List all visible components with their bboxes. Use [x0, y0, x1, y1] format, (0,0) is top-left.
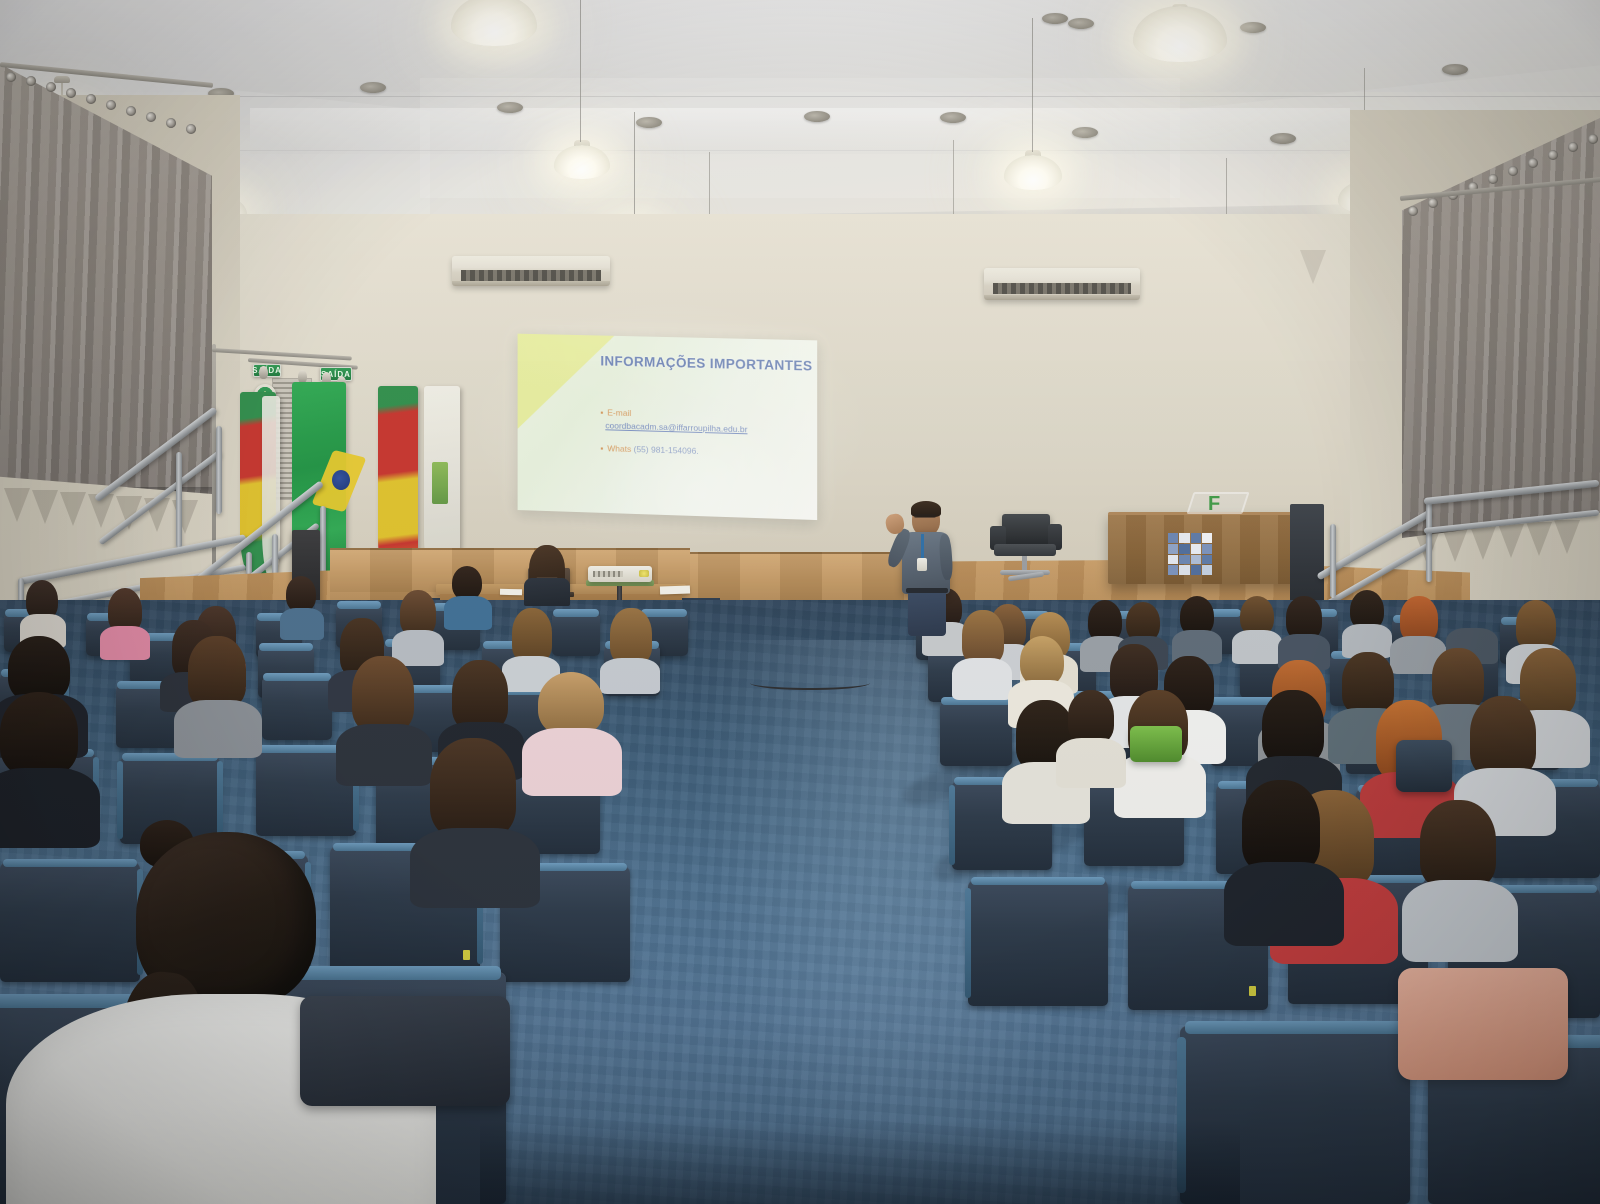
curtain-grommet: [26, 76, 36, 86]
hair: [512, 608, 552, 662]
hair: [452, 660, 508, 730]
armchair-seat: [994, 544, 1056, 556]
curtain-shadow-scallop: [1554, 520, 1580, 554]
pendant-lamp-9: [1002, 150, 1064, 222]
presenter: [890, 494, 970, 634]
logo-tile: [1191, 555, 1201, 565]
ceiling-seam-1: [0, 96, 1600, 97]
paper-sheet-2: [500, 589, 522, 595]
curtain-grommet: [1508, 166, 1518, 176]
logo-tile: [1179, 565, 1189, 575]
railing-post: [216, 426, 222, 514]
presenter-belt: [906, 588, 948, 593]
lamp-dome: [554, 145, 610, 179]
recessed-spot-11: [1442, 64, 1468, 75]
curtain-grommet: [186, 124, 196, 134]
stage-right-dark-panel: [1290, 504, 1324, 610]
hair: [286, 576, 316, 612]
logo-tile: [1179, 533, 1189, 543]
presenter-lanyard: [921, 534, 924, 560]
pendant-lamp-4: [448, 0, 540, 56]
hair: [610, 608, 652, 664]
jacket-on-seat: [1398, 968, 1568, 1080]
curtain-grommet: [146, 112, 156, 122]
hair: [352, 656, 414, 732]
pendant-lamp-5: [552, 140, 612, 210]
logo-tile: [1202, 544, 1212, 554]
torso: [1402, 880, 1518, 962]
curtain-grommet: [1568, 142, 1578, 152]
torso: [1114, 754, 1206, 818]
recessed-spot-12: [1068, 18, 1094, 29]
bullet-marker: ▪: [600, 407, 603, 417]
hair: [1420, 800, 1496, 888]
curtain-shadow-scallop: [1470, 526, 1496, 560]
curtain-grommet: [6, 72, 16, 82]
torso: [952, 658, 1012, 700]
hair: [1432, 648, 1484, 710]
curtain-grommet: [66, 88, 76, 98]
ac-grille: [993, 283, 1130, 294]
curtain-grommet: [1528, 158, 1538, 168]
flag-brasil-blue-globe: [332, 470, 350, 490]
lamp-dome: [1004, 155, 1062, 190]
seat[interactable]: [552, 612, 600, 656]
projection-screen: INFORMAÇÕES IMPORTANTES ▪E-mail coordbac…: [518, 334, 818, 520]
railing-post: [1330, 524, 1336, 598]
hair: [538, 672, 604, 736]
curtain-shadow-scallop: [1300, 250, 1326, 284]
hair: [1516, 600, 1556, 650]
hair: [0, 692, 78, 776]
ceiling-band-lower: [250, 108, 1350, 154]
flag-institucional-mark: [432, 462, 448, 504]
hair: [188, 636, 246, 708]
seat[interactable]: [0, 862, 140, 982]
projector-vents: [593, 571, 622, 577]
curtain-grommet: [126, 106, 136, 116]
torso: [1056, 738, 1126, 788]
curtain-grommet: [1588, 134, 1598, 144]
curtain-shadow-scallop: [1498, 524, 1524, 558]
recessed-spot-3: [497, 102, 523, 113]
logo-tile: [1168, 533, 1178, 543]
bag-on-floor: [300, 996, 510, 1106]
backpack: [1396, 740, 1452, 792]
recessed-spot-4: [636, 117, 662, 128]
curtain-grommet: [1488, 174, 1498, 184]
ac-lip: [452, 281, 610, 286]
torso: [1232, 630, 1282, 664]
curtain-shadow-scallop: [1442, 528, 1468, 562]
torso: [444, 596, 492, 630]
presenter-glasses-icon: [914, 514, 936, 518]
torso: [0, 768, 100, 848]
hair: [1068, 690, 1114, 744]
logo-tile: [1202, 555, 1212, 565]
recessed-spot-7: [1042, 13, 1068, 24]
hair: [1020, 636, 1064, 686]
recessed-spot-5: [804, 111, 830, 122]
hair: [1342, 652, 1394, 714]
recessed-spot-13: [360, 82, 386, 93]
hair: [1520, 648, 1576, 716]
recessed-spot-8: [1072, 127, 1098, 138]
curtain-grommet: [166, 118, 176, 128]
armchair-back: [1002, 514, 1050, 546]
torso: [1224, 862, 1344, 946]
railing-post: [1426, 498, 1432, 582]
bullet-label: E-mail: [607, 407, 631, 418]
torso: [600, 658, 660, 694]
floor-cable: [750, 676, 870, 690]
lectern: [1108, 512, 1304, 584]
recessed-spot-6: [940, 112, 966, 123]
logo-tile: [1191, 565, 1201, 575]
logo-tile: [1179, 555, 1189, 565]
logo-tile: [1202, 565, 1212, 575]
logo-tile: [1168, 544, 1178, 554]
foreground-shadow: [480, 1120, 1240, 1204]
curtain-grommet: [106, 100, 116, 110]
whatsapp-number: (55) 981-154096.: [634, 444, 699, 456]
pendant-lamp-10: [1130, 4, 1230, 80]
logo-tile: [1168, 565, 1178, 575]
logo-tile: [1191, 544, 1201, 554]
hair: [430, 738, 516, 838]
logo-tile: [1202, 533, 1212, 543]
projector-lens: [639, 570, 649, 577]
auditorium-photo: INFORMAÇÕES IMPORTANTES ▪E-mail coordbac…: [0, 0, 1600, 1204]
bullet-marker: ▪: [600, 443, 603, 453]
logo-tile: [1191, 533, 1201, 543]
presenter-legs: [908, 590, 946, 636]
ac-lip: [984, 295, 1140, 300]
curtain-grommet: [46, 82, 56, 92]
torso: [174, 700, 262, 758]
torso: [280, 608, 324, 640]
seat[interactable]: [262, 676, 332, 740]
logo-tile: [1179, 544, 1189, 554]
torso: [522, 728, 622, 796]
paper-sheet-1: [660, 585, 690, 594]
seat[interactable]: [940, 700, 1012, 766]
torso: [410, 828, 540, 908]
recessed-spot-9: [1240, 22, 1266, 33]
lamp-9-wire: [1032, 18, 1033, 152]
logo-tile: [1168, 555, 1178, 565]
stage-armchair: [988, 514, 1062, 586]
operator-torso: [524, 578, 570, 606]
slide-bullet-email: ▪E-mail: [600, 407, 631, 418]
bullet-label: Whats: [607, 443, 631, 454]
torso: [100, 626, 150, 660]
presenter-badge: [917, 558, 927, 571]
recessed-spot-10: [1270, 133, 1296, 144]
curtain-grommet: [1408, 206, 1418, 216]
hair: [452, 566, 482, 600]
lamp-5-wire: [580, 0, 581, 142]
lectern-logo-letter-f: F: [1208, 494, 1220, 514]
backpack: [1130, 726, 1182, 762]
air-conditioner-right: [984, 268, 1140, 300]
curtain-grommet: [86, 94, 96, 104]
railing-post: [176, 452, 182, 548]
curtain-shadow-scallop: [60, 492, 86, 526]
projector: [588, 566, 652, 582]
hair: [1262, 690, 1324, 764]
lamp-6-wire: [634, 112, 635, 226]
lectern-institutional-logo: [1168, 533, 1212, 575]
seat[interactable]: [968, 880, 1108, 1006]
lamp-dome: [451, 0, 537, 46]
curtain-grommet: [1548, 150, 1558, 160]
ac-grille: [461, 270, 600, 280]
hair: [1470, 696, 1536, 776]
curtain-shadow-scallop: [1526, 522, 1552, 556]
air-conditioner-left: [452, 256, 610, 286]
lamp-cap: [54, 76, 70, 83]
lamp-dome: [1133, 6, 1227, 62]
curtain-grommet: [1428, 198, 1438, 208]
flag-finial-1: [259, 366, 268, 379]
hair: [1242, 780, 1320, 872]
curtain-shadow-scallop: [4, 488, 30, 522]
curtain-shadow-scallop: [32, 490, 58, 524]
torso: [336, 724, 432, 786]
